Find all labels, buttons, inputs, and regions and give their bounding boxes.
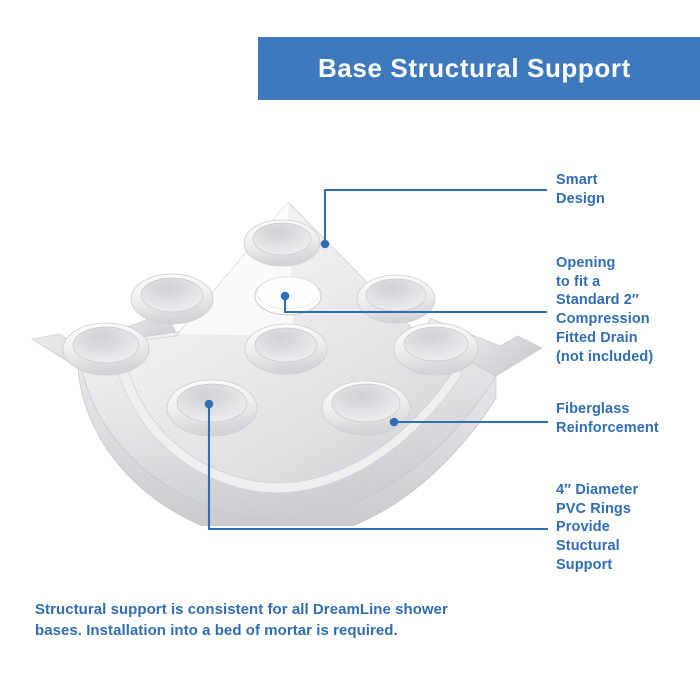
footer-note: Structural support is consistent for all… bbox=[35, 599, 475, 642]
callout-smart-design: Smart Design bbox=[556, 171, 605, 208]
product-illustration bbox=[26, 186, 550, 526]
center-drain-opening bbox=[255, 277, 321, 315]
pvc-ring bbox=[322, 381, 410, 435]
pvc-ring bbox=[167, 380, 257, 436]
callout-fiberglass-reinforcement: Fiberglass Reinforcement bbox=[556, 400, 659, 437]
pvc-ring bbox=[245, 324, 327, 374]
callout-pvc-rings: 4″ Diameter PVC Rings Provide Stuctural … bbox=[556, 481, 638, 575]
infographic-canvas: Base Structural Support bbox=[0, 0, 700, 700]
page-title: Base Structural Support bbox=[318, 53, 631, 84]
pvc-ring bbox=[63, 323, 149, 375]
header-banner: Base Structural Support bbox=[258, 37, 700, 100]
pvc-ring bbox=[394, 323, 478, 375]
pvc-ring bbox=[244, 220, 320, 266]
shower-base-graphic bbox=[26, 186, 550, 526]
callout-drain-opening: Opening to fit a Standard 2″ Compression… bbox=[556, 254, 653, 366]
pvc-ring bbox=[131, 274, 213, 324]
pvc-ring bbox=[357, 275, 435, 323]
